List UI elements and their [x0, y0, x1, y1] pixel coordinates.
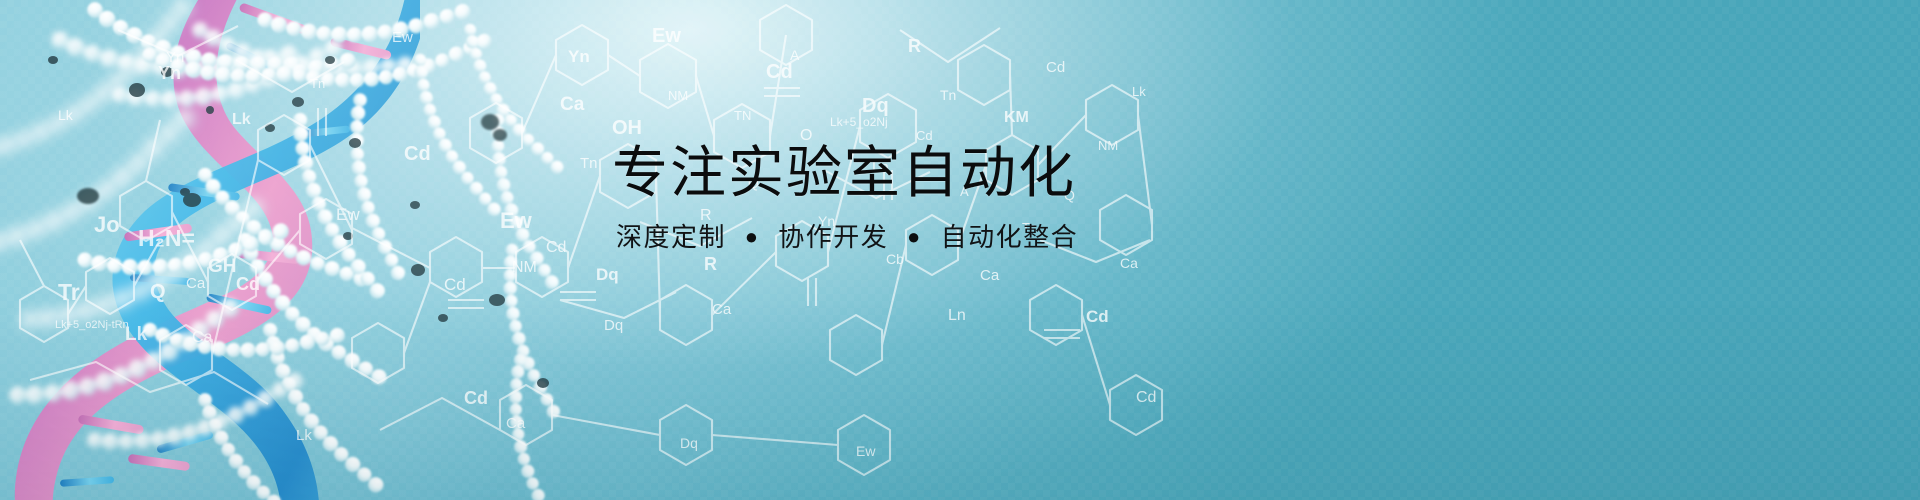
page-title: 专注实验室自动化: [612, 143, 1312, 202]
svg-text:Cd: Cd: [464, 388, 488, 408]
svg-text:Cd: Cd: [404, 143, 431, 165]
svg-text:Q: Q: [150, 281, 166, 303]
svg-text:Lk: Lk: [1132, 84, 1146, 99]
svg-text:Ln: Ln: [948, 307, 966, 324]
hero-banner: Tr Jo H₂N= GH Q Yn Yn Lk+5_o2Nj-tRn Lk C…: [0, 0, 1920, 500]
svg-text:GH: GH: [208, 256, 237, 277]
svg-text:Ca: Ca: [980, 267, 1000, 284]
subtitle-item-1: 深度定制: [616, 222, 726, 252]
svg-text:Ew: Ew: [652, 25, 681, 47]
svg-text:Tn: Tn: [580, 155, 598, 172]
svg-text:Dq: Dq: [680, 435, 698, 451]
svg-text:Ca: Ca: [1120, 255, 1138, 271]
svg-text:R: R: [704, 254, 717, 274]
subtitle-item-3: 自动化整合: [941, 222, 1079, 252]
svg-text:Yn: Yn: [166, 49, 184, 66]
svg-text:Tr: Tr: [58, 279, 80, 305]
svg-text:Tn: Tn: [310, 76, 325, 91]
svg-text:Dq: Dq: [862, 95, 889, 117]
svg-text:Cd: Cd: [766, 61, 793, 83]
svg-text:Yn: Yn: [568, 47, 590, 66]
svg-text:Lk: Lk: [58, 107, 74, 123]
svg-text:NM: NM: [668, 88, 688, 103]
svg-text:Jo: Jo: [94, 212, 120, 237]
svg-text:Cd: Cd: [546, 239, 566, 256]
svg-text:H₂N=: H₂N=: [138, 225, 195, 251]
svg-text:TN: TN: [734, 108, 751, 123]
svg-text:OH: OH: [612, 117, 642, 139]
banner-copy: 专注实验室自动化 深度定制 ● 协作开发 ● 自动化整合: [612, 143, 1312, 254]
svg-text:Lk: Lk: [125, 324, 148, 345]
svg-text:Cd: Cd: [236, 274, 260, 294]
svg-text:Lk: Lk: [232, 111, 251, 128]
beaded-dna-strands: [0, 0, 640, 500]
svg-text:Cd: Cd: [1046, 59, 1065, 76]
svg-text:Dq: Dq: [596, 265, 619, 284]
svg-text:NM: NM: [512, 259, 537, 276]
svg-text:Dq: Dq: [604, 317, 623, 334]
svg-text:Ca: Ca: [192, 329, 213, 346]
dna-double-helix: [0, 0, 420, 500]
svg-text:R: R: [908, 36, 921, 56]
svg-text:Lk+5_o2Nj-tRn: Lk+5_o2Nj-tRn: [55, 319, 129, 331]
svg-text:KM: KM: [1004, 109, 1029, 126]
svg-text:A: A: [790, 47, 800, 63]
subtitle-item-2: 协作开发: [778, 222, 888, 252]
svg-text:Tn: Tn: [940, 87, 956, 103]
svg-text:Ew: Ew: [336, 205, 360, 224]
svg-text:Lk+5_o2Nj: Lk+5_o2Nj: [830, 115, 888, 129]
svg-text:Lk: Lk: [296, 427, 312, 444]
svg-text:Cd: Cd: [444, 275, 466, 294]
svg-text:Ca: Ca: [712, 301, 732, 318]
svg-text:Ew: Ew: [392, 29, 413, 46]
svg-text:Ca: Ca: [560, 94, 585, 115]
bullet-separator-icon: ●: [745, 224, 760, 250]
svg-text:Cd: Cd: [1086, 307, 1109, 326]
bullet-separator-icon: ●: [907, 224, 922, 250]
banner-subtitle: 深度定制 ● 协作开发 ● 自动化整合: [616, 222, 1312, 253]
svg-text:Ew: Ew: [500, 208, 533, 233]
svg-text:Ca: Ca: [186, 275, 206, 292]
svg-text:Cd: Cd: [1136, 389, 1156, 406]
svg-text:Ew: Ew: [856, 443, 876, 459]
svg-text:Ca: Ca: [506, 415, 526, 432]
svg-text:Yn: Yn: [158, 63, 181, 83]
